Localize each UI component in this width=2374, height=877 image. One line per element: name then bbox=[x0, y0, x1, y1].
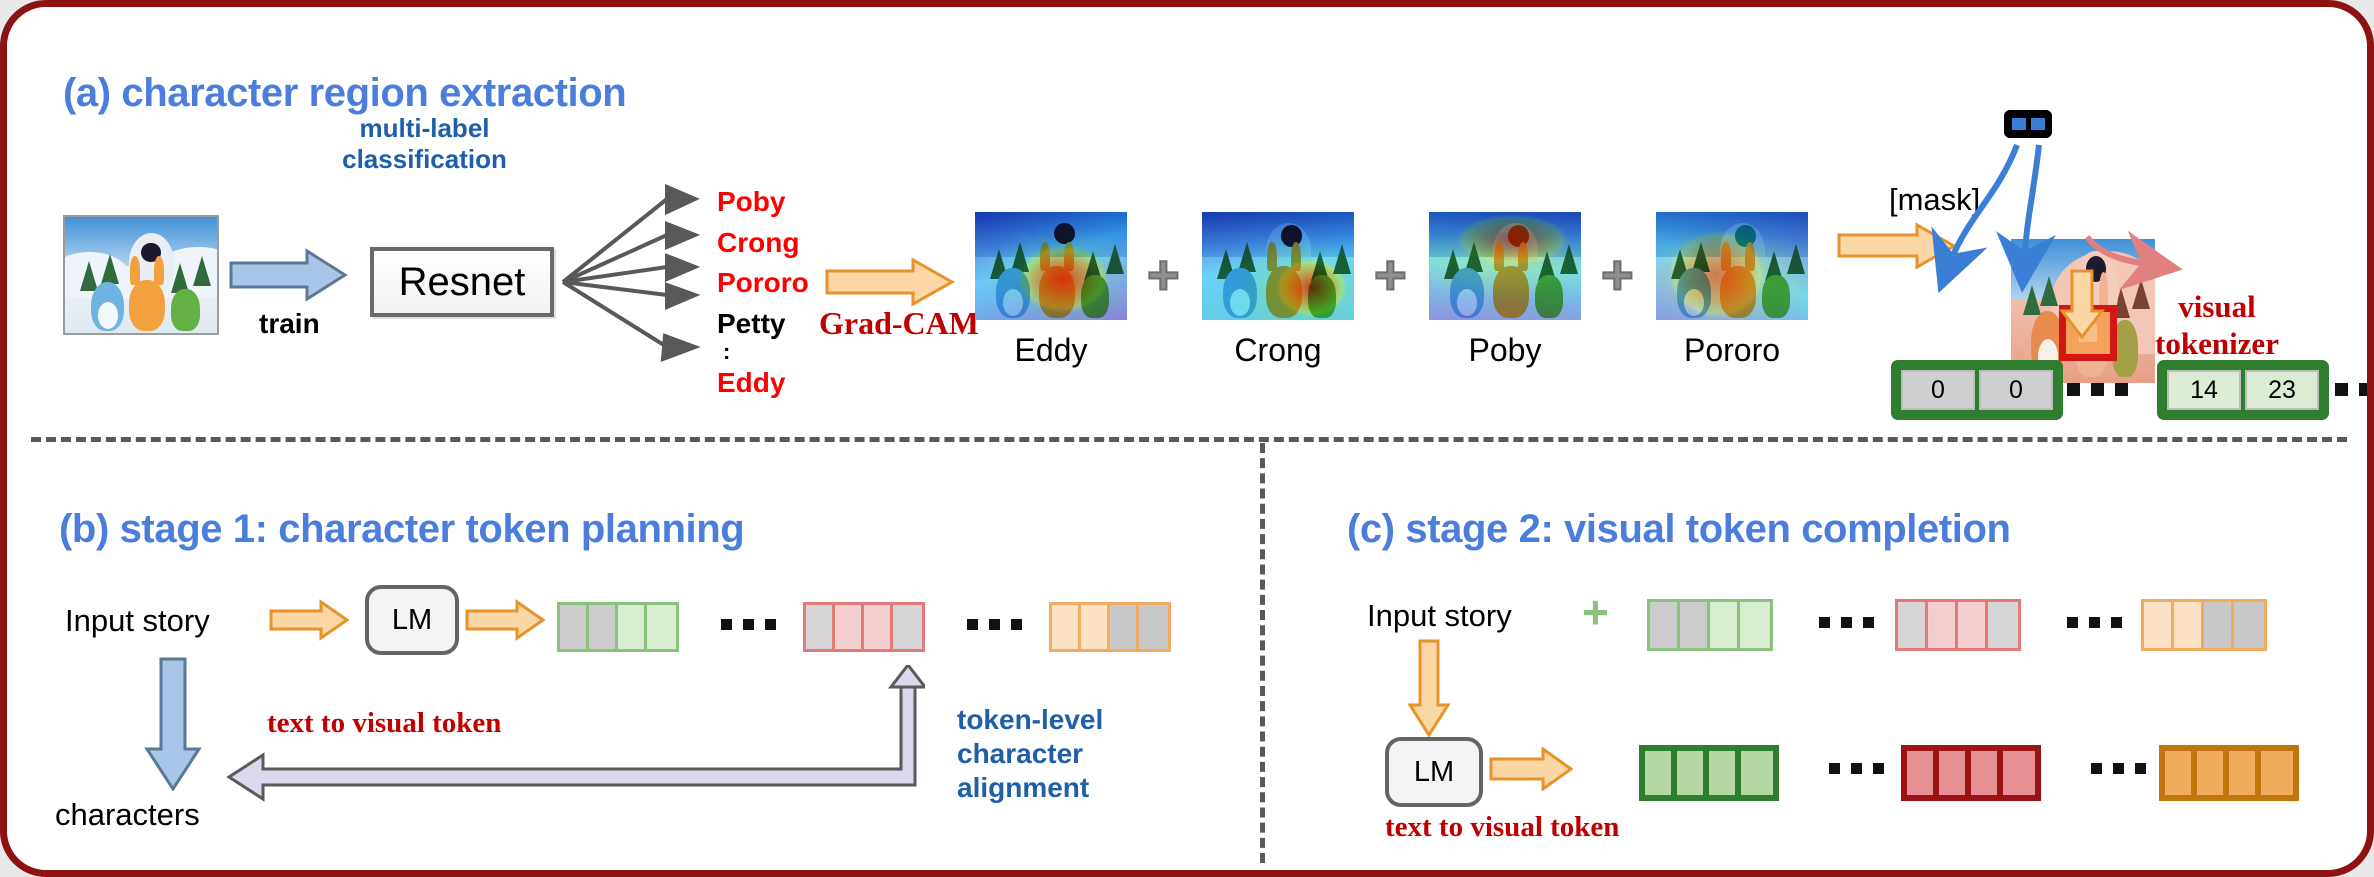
panel-b-alignment-arrow-icon bbox=[225, 665, 925, 805]
classification-fan-arrows-icon bbox=[555, 177, 715, 367]
panel-b-token-strip-1 bbox=[803, 602, 925, 652]
heatmap-poby: Poby bbox=[1429, 212, 1581, 369]
panel-c-input-ellipsis-1 bbox=[2067, 617, 2122, 628]
multilabel-classification-label: multi-label classification bbox=[317, 113, 532, 174]
token-cell bbox=[2234, 602, 2264, 648]
heatmap-label-1: Crong bbox=[1202, 332, 1354, 369]
predicted-character-0: Poby bbox=[717, 185, 809, 219]
panel-c-lm-output-arrow-icon bbox=[1489, 747, 1573, 791]
predicted-character-4: Eddy bbox=[717, 366, 809, 400]
predicted-character-ellipsis: : bbox=[723, 342, 809, 362]
plus-icon-1: + bbox=[1147, 242, 1180, 307]
token-group-0: 0 0 bbox=[1891, 360, 2063, 420]
mask-token-chip-icon bbox=[2004, 110, 2052, 138]
panel-c-input-ellipsis-0 bbox=[1819, 617, 1874, 628]
predicted-character-1: Crong bbox=[717, 226, 809, 260]
multilabel-line2: classification bbox=[317, 144, 532, 175]
heatmap-crong: Crong bbox=[1202, 212, 1354, 369]
alignment-line3: alignment bbox=[957, 771, 1103, 805]
panel-b-input-arrow-icon bbox=[269, 599, 349, 641]
token-cell bbox=[2144, 602, 2174, 648]
gradcam-arrow-icon bbox=[825, 257, 955, 307]
token-cell bbox=[560, 605, 589, 649]
token-cell bbox=[1898, 602, 1928, 648]
panel-c-down-arrow-icon bbox=[1407, 639, 1451, 737]
token-cell bbox=[1740, 602, 1770, 648]
figure-root: (a) character region extraction train mu… bbox=[0, 0, 2374, 877]
token-cell bbox=[2003, 751, 2035, 795]
heatmap-eddy: Eddy bbox=[975, 212, 1127, 369]
predicted-character-3: Petty bbox=[717, 307, 809, 341]
panel-c-output-token-strip-2 bbox=[2159, 745, 2299, 801]
visual-tokenizer-label: visual tokenizer bbox=[2155, 289, 2279, 362]
token-cell bbox=[1139, 605, 1168, 649]
resnet-box: Resnet bbox=[370, 247, 554, 317]
train-arrow-icon bbox=[229, 247, 349, 303]
panel-b-input-story-label: Input story bbox=[65, 603, 210, 639]
token-cell bbox=[864, 605, 893, 649]
token-cell bbox=[1710, 602, 1740, 648]
panel-b-lm-box: LM bbox=[365, 585, 459, 655]
predicted-character-2: Pororo bbox=[717, 266, 809, 300]
gradcam-label: Grad-CAM bbox=[819, 305, 979, 342]
panel-c-lm-box: LM bbox=[1385, 737, 1483, 807]
token-cell bbox=[1939, 751, 1971, 795]
train-label: train bbox=[259, 307, 320, 341]
panel-c-input-story-label: Input story bbox=[1367, 598, 1512, 634]
token-group-1: 14 23 bbox=[2157, 360, 2329, 420]
token-cell bbox=[1677, 751, 1709, 795]
alignment-line1: token-level bbox=[957, 703, 1103, 737]
token-cell: 0 bbox=[1979, 370, 2053, 410]
panel-b-alignment-label: token-level character alignment bbox=[957, 703, 1103, 805]
panel-c-title: (c) stage 2: visual token completion bbox=[1347, 507, 2011, 552]
token-cell bbox=[1081, 605, 1110, 649]
token-cell bbox=[2165, 751, 2197, 795]
token-cell bbox=[1971, 751, 2003, 795]
heatmap-label-3: Pororo bbox=[1656, 332, 1808, 369]
token-cell: 23 bbox=[2245, 370, 2319, 410]
token-cell bbox=[2229, 751, 2261, 795]
panel-c-input-token-strip-1 bbox=[1895, 599, 2021, 651]
predicted-character-list: Poby Crong Pororo Petty : Eddy bbox=[717, 185, 809, 400]
token-ellipsis-1 bbox=[2067, 383, 2128, 396]
token-cell bbox=[1988, 602, 2018, 648]
token-cell bbox=[647, 605, 676, 649]
panel-c-output-ellipsis-0 bbox=[1829, 763, 1884, 774]
source-story-image bbox=[63, 215, 219, 335]
panel-c-output-ellipsis-1 bbox=[2091, 763, 2146, 774]
panel-c-input-token-strip-2 bbox=[2141, 599, 2267, 651]
token-cell bbox=[589, 605, 618, 649]
token-cell bbox=[1907, 751, 1939, 795]
vertical-divider bbox=[1260, 443, 1265, 863]
heatmap-label-0: Eddy bbox=[975, 332, 1127, 369]
token-cell bbox=[806, 605, 835, 649]
plus-icon-3: + bbox=[1601, 242, 1634, 307]
visual-tokenizer-line1: visual bbox=[2155, 289, 2279, 326]
token-cell bbox=[1928, 602, 1958, 648]
token-cell bbox=[1958, 602, 1988, 648]
token-cell bbox=[2197, 751, 2229, 795]
token-cell bbox=[1645, 751, 1677, 795]
plus-icon-2: + bbox=[1374, 242, 1407, 307]
token-cell bbox=[1052, 605, 1081, 649]
panel-c-text-to-visual-token-label: text to visual token bbox=[1385, 811, 1619, 844]
panel-b-token-strip-2 bbox=[1049, 602, 1171, 652]
horizontal-divider bbox=[31, 437, 2347, 442]
token-cell: 14 bbox=[2167, 370, 2241, 410]
token-cell bbox=[2174, 602, 2204, 648]
panel-b-title: (b) stage 1: character token planning bbox=[59, 507, 744, 552]
panel-c-output-token-strip-0 bbox=[1639, 745, 1779, 801]
panel-b-characters-arrow-icon bbox=[143, 657, 203, 791]
token-cell: 0 bbox=[1901, 370, 1975, 410]
panel-b-characters-label: characters bbox=[55, 797, 200, 833]
token-cell bbox=[1709, 751, 1741, 795]
token-cell bbox=[1741, 751, 1773, 795]
panel-c-input-token-strip-0 bbox=[1647, 599, 1773, 651]
panel-c-plus-icon: + bbox=[1582, 585, 1609, 639]
heatmap-label-2: Poby bbox=[1429, 332, 1581, 369]
panel-b-token-strip-0 bbox=[557, 602, 679, 652]
token-cell bbox=[1110, 605, 1139, 649]
multilabel-line1: multi-label bbox=[317, 113, 532, 144]
token-cell bbox=[835, 605, 864, 649]
panel-c-output-token-strip-1 bbox=[1901, 745, 2041, 801]
panel-b-ellipsis-0 bbox=[721, 619, 776, 630]
token-cell bbox=[893, 605, 922, 649]
visual-tokenizer-line2: tokenizer bbox=[2155, 326, 2279, 363]
token-cell bbox=[2204, 602, 2234, 648]
panel-a-title: (a) character region extraction bbox=[63, 71, 626, 116]
tokenizer-down-arrow-icon bbox=[2059, 269, 2105, 339]
token-cell bbox=[2261, 751, 2293, 795]
token-ellipsis-2 bbox=[2335, 383, 2374, 396]
heatmap-pororo: Pororo bbox=[1656, 212, 1808, 369]
token-cell bbox=[618, 605, 647, 649]
panel-b-output-arrow-icon bbox=[465, 599, 545, 641]
alignment-line2: character bbox=[957, 737, 1103, 771]
panel-b-ellipsis-1 bbox=[967, 619, 1022, 630]
token-cell bbox=[1680, 602, 1710, 648]
token-cell bbox=[1650, 602, 1680, 648]
